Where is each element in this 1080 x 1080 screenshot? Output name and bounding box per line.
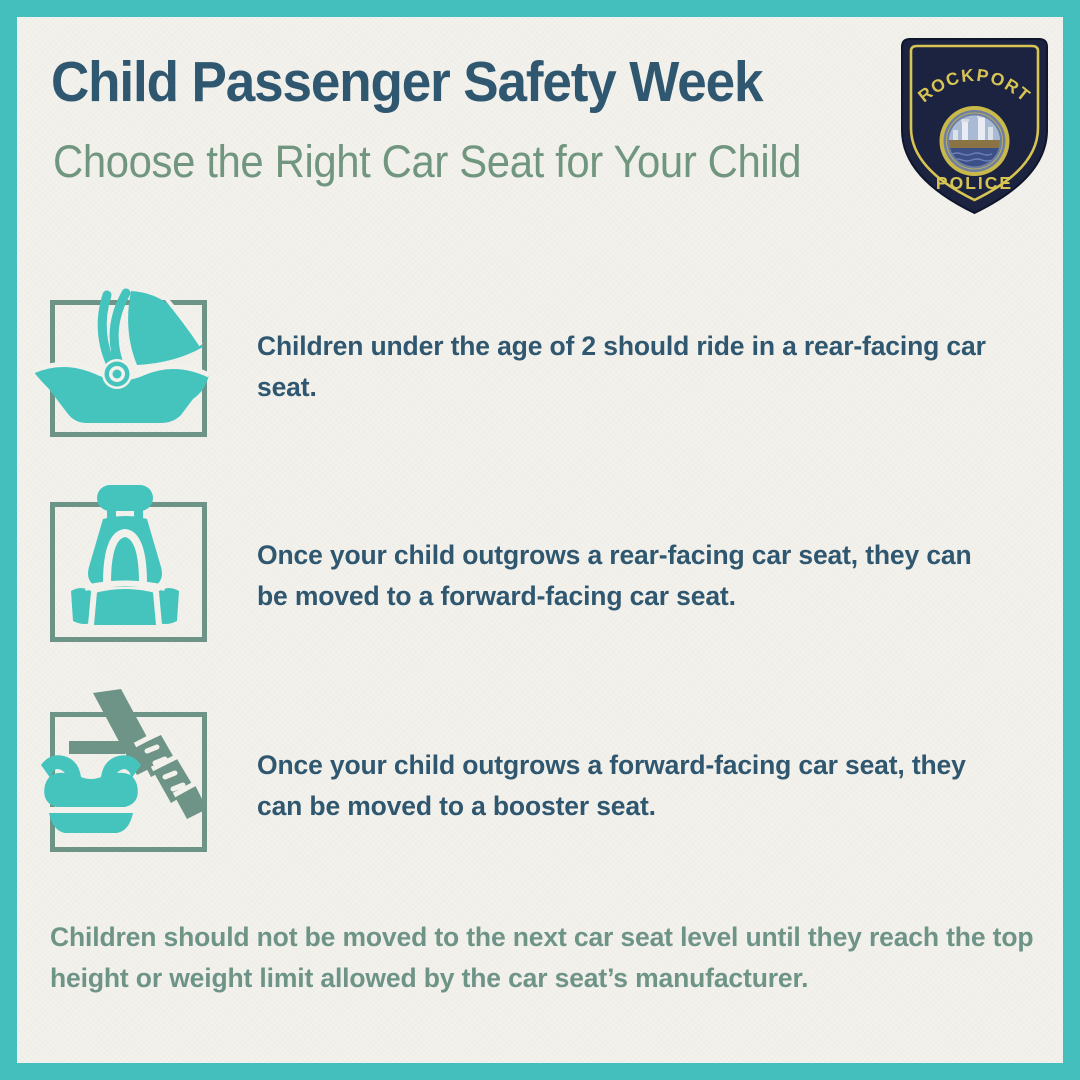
tip-text-2: Once your child outgrows a rear-facing c… — [257, 535, 987, 617]
poster-header: Child Passenger Safety Week Choose the R… — [17, 17, 1063, 217]
footer-note: Children should not be moved to the next… — [50, 917, 1035, 999]
poster-inner-panel: Child Passenger Safety Week Choose the R… — [17, 17, 1063, 1063]
forward-facing-car-seat-icon — [25, 475, 225, 635]
tip-row-3: Once your child outgrows a forward-facin… — [17, 695, 1063, 860]
police-shield-icon: ROCKPORT — [892, 33, 1057, 218]
tip-row-1: Children under the age of 2 should ride … — [17, 283, 1063, 443]
rockport-police-badge: ROCKPORT — [892, 33, 1057, 218]
tip-row-2: Once your child outgrows a rear-facing c… — [17, 485, 1063, 650]
page-title: Child Passenger Safety Week — [51, 51, 762, 113]
booster-seat-with-seatbelt-icon — [25, 685, 225, 845]
badge-bottom-text: POLICE — [936, 173, 1013, 193]
infographic-poster: Child Passenger Safety Week Choose the R… — [0, 0, 1080, 1080]
tip-text-3: Once your child outgrows a forward-facin… — [257, 745, 987, 827]
rear-facing-infant-carrier-icon — [25, 273, 225, 433]
tip-text-1: Children under the age of 2 should ride … — [257, 326, 987, 408]
page-subtitle: Choose the Right Car Seat for Your Child — [53, 137, 801, 187]
